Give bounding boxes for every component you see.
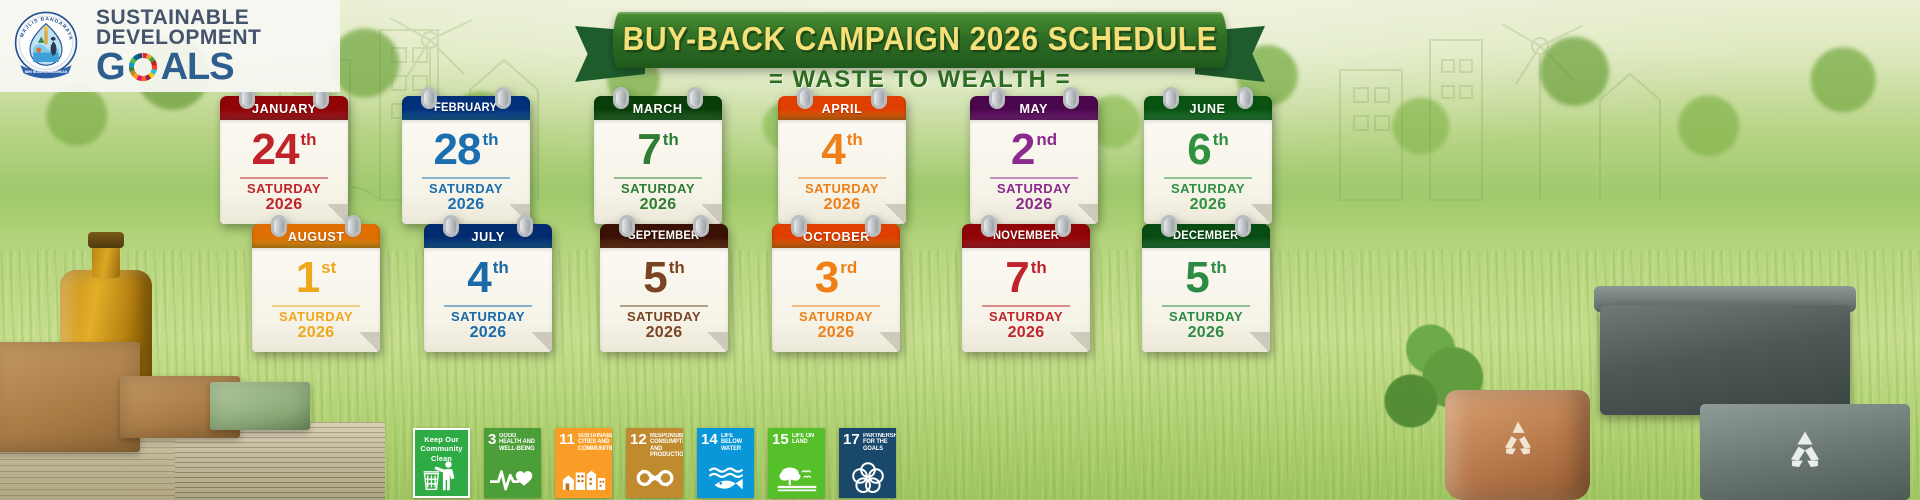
day-suffix: th (1213, 131, 1229, 148)
heartbeat-icon (484, 461, 541, 495)
calendar-body: 7thSATURDAY2026 (594, 120, 722, 224)
calendar-day: 24th (226, 126, 342, 172)
sdg-badge-12[interactable]: 12RESPONSIBLE CONSUMPTION AND PRODUCTION (626, 428, 683, 498)
calendar-year: 2026 (1148, 324, 1264, 342)
calendar-year: 2026 (408, 196, 524, 214)
calendar-rings (962, 215, 1090, 237)
sdg-badge-3[interactable]: 3GOOD HEALTH AND WELL-BEING (484, 428, 541, 498)
calendar-body: 6thSATURDAY2026 (1144, 120, 1272, 224)
majlis-bandaraya-miri-seal: MAJLIS BANDARAYA MIRI MIRI BUDAYA BERSIH… (6, 6, 86, 86)
calendar-card-february[interactable]: FEBRUARY28thSATURDAY2026 (402, 96, 530, 224)
interlock-rings-icon (839, 461, 896, 495)
calendar-year: 2026 (778, 324, 894, 342)
day-number: 3 (815, 256, 838, 300)
calendar-rings (424, 215, 552, 237)
day-suffix: th (300, 131, 316, 148)
day-suffix: st (321, 259, 336, 276)
calendar-year: 2026 (606, 324, 722, 342)
badge-number: 12 (630, 433, 647, 447)
calendar-body: 5thSATURDAY2026 (600, 248, 728, 352)
day-number: 4 (821, 128, 844, 172)
tree-birds-icon (768, 461, 825, 495)
day-suffix: th (663, 131, 679, 148)
day-number: 5 (643, 256, 666, 300)
calendar-divider (422, 177, 510, 179)
badge-number: 17 (843, 433, 860, 447)
ring-right (345, 215, 361, 237)
calendar-body: 4thSATURDAY2026 (424, 248, 552, 352)
calendar-card-october[interactable]: OCTOBER3rdSATURDAY2026 (772, 224, 900, 352)
keep-clean-icon (415, 459, 468, 493)
calendar-card-december[interactable]: DECEMBER5thSATURDAY2026 (1142, 224, 1270, 352)
day-number: 7 (1005, 256, 1028, 300)
day-of-week: SATURDAY (778, 310, 894, 325)
day-of-week: SATURDAY (258, 310, 374, 325)
badge-header: 12RESPONSIBLE CONSUMPTION AND PRODUCTION (626, 428, 683, 459)
ring-left (421, 87, 437, 109)
calendar-body: 7thSATURDAY2026 (962, 248, 1090, 352)
day-suffix: nd (1036, 131, 1057, 148)
calendar-rings (600, 215, 728, 237)
calendar-body: 28thSATURDAY2026 (402, 120, 530, 224)
calendar-year: 2026 (784, 196, 900, 214)
day-of-week: SATURDAY (1148, 310, 1264, 325)
fish-waves-icon (697, 461, 754, 495)
sdg-goals-g: G (96, 50, 125, 84)
calendar-day: 5th (1148, 254, 1264, 300)
day-of-week: SATURDAY (408, 182, 524, 197)
ring-right (693, 215, 709, 237)
day-suffix: th (1031, 259, 1047, 276)
day-of-week: SATURDAY (430, 310, 546, 325)
sdg-goals-als: ALS (161, 50, 234, 84)
cityscape-icon (555, 461, 612, 495)
sdg-badge-11[interactable]: 11SUSTAINABLE CITIES AND COMMUNITIES (555, 428, 612, 498)
calendar-card-april[interactable]: APRIL4thSATURDAY2026 (778, 96, 906, 224)
ring-right (517, 215, 533, 237)
sdg-badge-keep-community-clean[interactable]: Keep Our Community Clean (413, 428, 470, 498)
sdg-badge-strip: Keep Our Community Clean3GOOD HEALTH AND… (413, 426, 896, 498)
ring-right (865, 215, 881, 237)
calendar-card-august[interactable]: AUGUST1stSATURDAY2026 (252, 224, 380, 352)
sdg-badge-14[interactable]: 14LIFE BELOW WATER (697, 428, 754, 498)
day-suffix: th (482, 131, 498, 148)
day-number: 1 (296, 256, 319, 300)
ribbon-body: BUY-BACK CAMPAIGN 2026 SCHEDULE (612, 12, 1228, 68)
calendar-card-june[interactable]: JUNE6thSATURDAY2026 (1144, 96, 1272, 224)
campaign-banner: BUY-BACK CAMPAIGN 2026 SCHEDULE = WASTE … (575, 4, 1265, 96)
calendar-year: 2026 (430, 324, 546, 342)
svg-text:MIRI BUDAYA BERSIHKAN: MIRI BUDAYA BERSIHKAN (25, 70, 68, 74)
day-number: 28 (434, 128, 481, 172)
calendar-day: 2nd (976, 126, 1092, 172)
ring-right (495, 87, 511, 109)
sdg-color-wheel-icon (126, 50, 160, 84)
badge-label: SUSTAINABLE CITIES AND COMMUNITIES (578, 433, 612, 452)
calendar-year: 2026 (226, 196, 342, 214)
calendar-rings (1142, 215, 1270, 237)
ring-left (443, 215, 459, 237)
infinity-icon (626, 461, 683, 495)
logo-plate: MAJLIS BANDARAYA MIRI MIRI BUDAYA BERSIH… (0, 0, 340, 92)
sdg-goals-row: G (96, 50, 261, 84)
calendar-divider (792, 305, 880, 307)
calendar-divider (620, 305, 708, 307)
banner-subtitle: = WASTE TO WEALTH = (575, 66, 1265, 94)
calendar-body: 5thSATURDAY2026 (1142, 248, 1270, 352)
ring-right (1235, 215, 1251, 237)
calendar-year: 2026 (968, 324, 1084, 342)
calendar-rings (772, 215, 900, 237)
badge-number: 11 (559, 433, 575, 447)
day-suffix: rd (840, 259, 857, 276)
badge-label: LIFE ON LAND (792, 433, 820, 446)
badge-number: 15 (772, 433, 789, 447)
ring-left (1161, 215, 1177, 237)
calendar-divider (444, 305, 532, 307)
calendar-day: 7th (600, 126, 716, 172)
calendar-year: 2026 (600, 196, 716, 214)
calendar-divider (1164, 177, 1252, 179)
calendar-body: 3rdSATURDAY2026 (772, 248, 900, 352)
badge-number: 3 (488, 433, 496, 447)
day-suffix: th (493, 259, 509, 276)
day-suffix: th (1211, 259, 1227, 276)
badge-header: 11SUSTAINABLE CITIES AND COMMUNITIES (555, 428, 612, 452)
day-number: 7 (637, 128, 660, 172)
badge-header: 3GOOD HEALTH AND WELL-BEING (484, 428, 541, 452)
badge-header: 14LIFE BELOW WATER (697, 428, 754, 452)
calendar-day: 3rd (778, 254, 894, 300)
calendar-day: 5th (606, 254, 722, 300)
badge-header: 17PARTNERSHIPS FOR THE GOALS (839, 428, 896, 452)
calendar-rings (402, 87, 530, 109)
calendar-card-september[interactable]: SEPTEMBER5thSATURDAY2026 (600, 224, 728, 352)
badge-label: RESPONSIBLE CONSUMPTION AND PRODUCTION (650, 433, 683, 459)
day-of-week: SATURDAY (784, 182, 900, 197)
badge-header: 15LIFE ON LAND (768, 428, 825, 447)
badge-label: LIFE BELOW WATER (721, 433, 749, 452)
calendar-day: 6th (1150, 126, 1266, 172)
calendar-year: 2026 (258, 324, 374, 342)
calendar-card-january[interactable]: JANUARY24thSATURDAY2026 (220, 96, 348, 224)
day-number: 2 (1011, 128, 1034, 172)
ring-left (619, 215, 635, 237)
calendar-divider (240, 177, 328, 179)
day-number: 24 (252, 128, 299, 172)
ring-left (791, 215, 807, 237)
calendar-body: 24thSATURDAY2026 (220, 120, 348, 224)
day-suffix: th (669, 259, 685, 276)
calendar-divider (614, 177, 702, 179)
day-of-week: SATURDAY (968, 310, 1084, 325)
calendar-card-march[interactable]: MARCH7thSATURDAY2026 (594, 96, 722, 224)
day-number: 6 (1187, 128, 1210, 172)
calendar-day: 28th (408, 126, 524, 172)
calendar-body: 2ndSATURDAY2026 (970, 120, 1098, 224)
ring-left (981, 215, 997, 237)
calendar-day: 4th (430, 254, 546, 300)
day-suffix: th (847, 131, 863, 148)
sdg-wordmark: SUSTAINABLE DEVELOPMENT G (96, 8, 261, 84)
calendar-body: 1stSATURDAY2026 (252, 248, 380, 352)
calendar-card-may[interactable]: MAY2ndSATURDAY2026 (970, 96, 1098, 224)
calendar-divider (798, 177, 886, 179)
badge-label: PARTNERSHIPS FOR THE GOALS (863, 433, 896, 452)
calendar-divider (1162, 305, 1250, 307)
ring-right (1055, 215, 1071, 237)
calendar-card-july[interactable]: JULY4thSATURDAY2026 (424, 224, 552, 352)
calendar-card-november[interactable]: NOVEMBER7thSATURDAY2026 (962, 224, 1090, 352)
sdg-line-sustainable: SUSTAINABLE (96, 8, 261, 28)
day-of-week: SATURDAY (226, 182, 342, 197)
badge-label: GOOD HEALTH AND WELL-BEING (499, 433, 535, 452)
sdg-badge-15[interactable]: 15LIFE ON LAND (768, 428, 825, 498)
calendar-year: 2026 (1150, 196, 1266, 214)
badge-number: 14 (701, 433, 718, 447)
day-of-week: SATURDAY (600, 182, 716, 197)
calendar-year: 2026 (976, 196, 1092, 214)
day-number: 5 (1185, 256, 1208, 300)
day-of-week: SATURDAY (1150, 182, 1266, 197)
ring-left (271, 215, 287, 237)
day-number: 4 (467, 256, 490, 300)
calendar-day: 4th (784, 126, 900, 172)
calendar-divider (990, 177, 1078, 179)
day-of-week: SATURDAY (976, 182, 1092, 197)
calendar-day: 7th (968, 254, 1084, 300)
calendar-divider (982, 305, 1070, 307)
calendar-rings (252, 215, 380, 237)
calendar-day: 1st (258, 254, 374, 300)
calendar-body: 4thSATURDAY2026 (778, 120, 906, 224)
day-of-week: SATURDAY (606, 310, 722, 325)
banner-title: BUY-BACK CAMPAIGN 2026 SCHEDULE (622, 21, 1218, 59)
calendar-divider (272, 305, 360, 307)
sdg-badge-17[interactable]: 17PARTNERSHIPS FOR THE GOALS (839, 428, 896, 498)
